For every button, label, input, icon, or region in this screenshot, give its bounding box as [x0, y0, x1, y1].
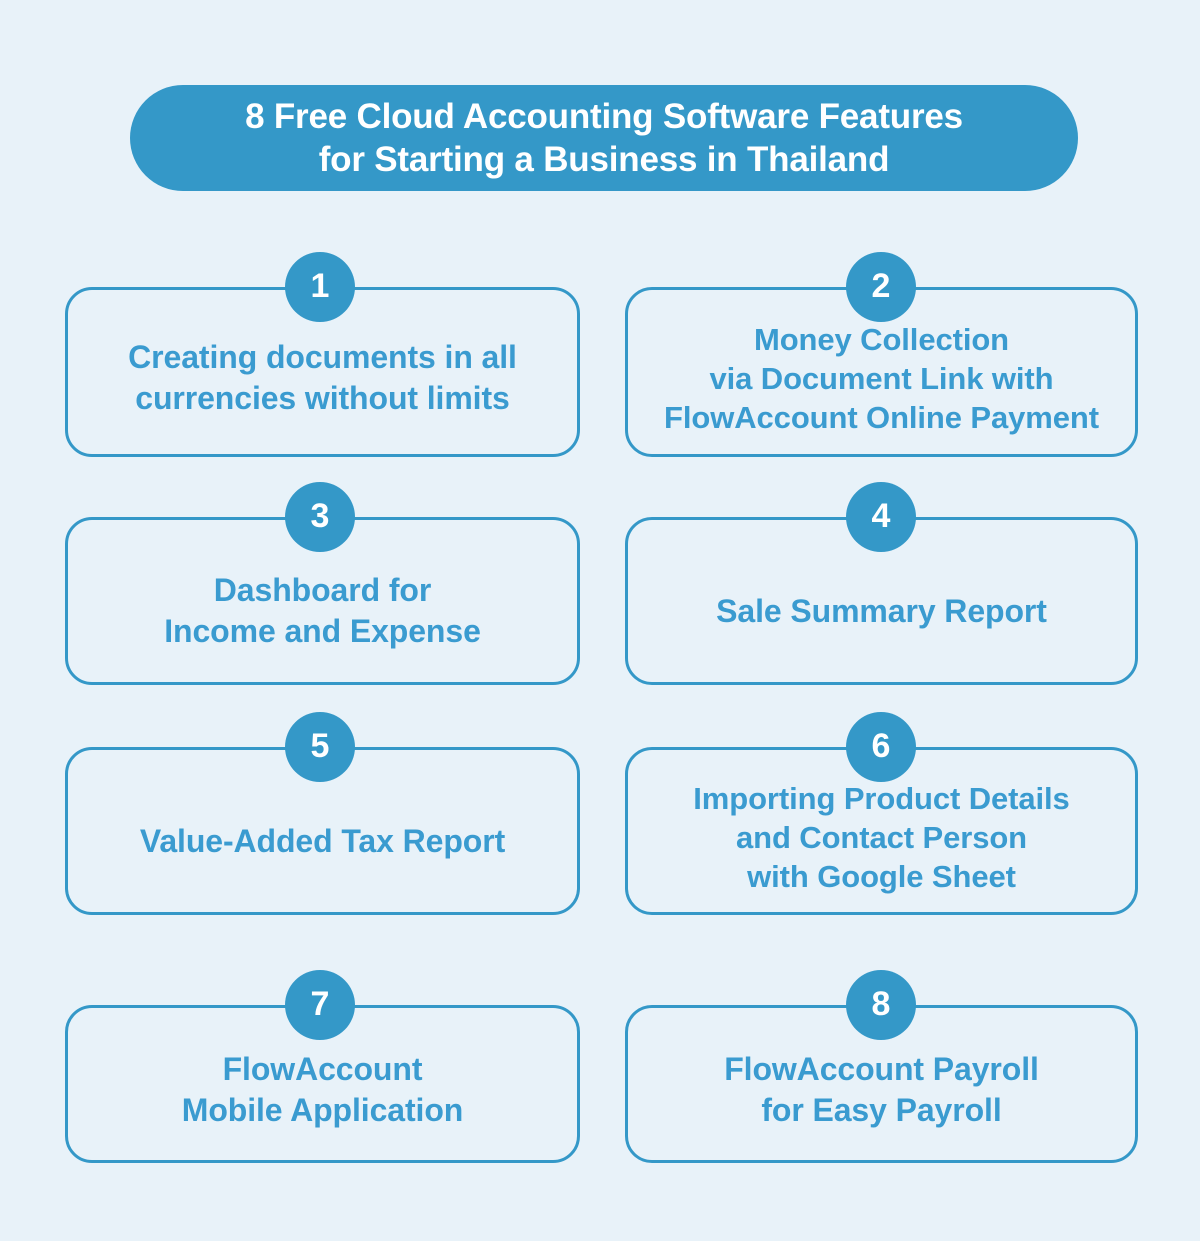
feature-badge-8-number: 8 [872, 987, 891, 1021]
feature-card-6-line-3: with Google Sheet [741, 857, 1022, 896]
feature-card-3-text: Dashboard for Income and Expense [68, 570, 577, 652]
feature-card-5-text: Value-Added Tax Report [68, 821, 577, 862]
feature-card-1-text: Creating documents in all currencies wit… [68, 337, 577, 419]
feature-badge-2: 2 [846, 252, 916, 322]
feature-card-2-line-3: FlowAccount Online Payment [664, 398, 1099, 437]
feature-card-6-text: Importing Product Details and Contact Pe… [628, 779, 1135, 896]
feature-card-7-line-1: FlowAccount [217, 1049, 429, 1090]
feature-card-8-text: FlowAccount Payroll for Easy Payroll [628, 1049, 1135, 1131]
feature-card-7-text: FlowAccount Mobile Application [68, 1049, 577, 1131]
feature-card-4-line-1: Sale Summary Report [710, 591, 1053, 632]
feature-card-5-line-1: Value-Added Tax Report [134, 821, 511, 862]
feature-badge-8: 8 [846, 970, 916, 1040]
feature-card-3-line-2: Income and Expense [158, 611, 487, 652]
feature-badge-1: 1 [285, 252, 355, 322]
feature-badge-7: 7 [285, 970, 355, 1040]
feature-badge-3-number: 3 [311, 499, 330, 533]
feature-badge-2-number: 2 [872, 269, 891, 303]
feature-card-1-line-1: Creating documents in all [122, 337, 523, 378]
feature-card-4-text: Sale Summary Report [628, 591, 1135, 632]
feature-badge-5: 5 [285, 712, 355, 782]
feature-card-1-line-2: currencies without limits [129, 378, 515, 419]
infographic-canvas: 8 Free Cloud Accounting Software Feature… [0, 0, 1200, 1241]
page-title-banner: 8 Free Cloud Accounting Software Feature… [130, 85, 1078, 191]
feature-card-8-line-1: FlowAccount Payroll [718, 1049, 1045, 1090]
feature-badge-7-number: 7 [311, 987, 330, 1021]
page-title-line-1: 8 Free Cloud Accounting Software Feature… [245, 95, 963, 138]
feature-badge-3: 3 [285, 482, 355, 552]
feature-card-6-line-2: and Contact Person [730, 818, 1033, 857]
feature-card-7-line-2: Mobile Application [176, 1090, 469, 1131]
feature-badge-1-number: 1 [311, 269, 330, 303]
feature-badge-4: 4 [846, 482, 916, 552]
feature-card-8-line-2: for Easy Payroll [755, 1090, 1007, 1131]
feature-card-6-line-1: Importing Product Details [687, 779, 1075, 818]
feature-badge-6-number: 6 [872, 729, 891, 763]
feature-badge-6: 6 [846, 712, 916, 782]
feature-card-2-line-2: via Document Link with [709, 359, 1053, 398]
page-title-line-2: for Starting a Business in Thailand [319, 138, 890, 181]
feature-card-3-line-1: Dashboard for [208, 570, 437, 611]
feature-badge-5-number: 5 [311, 729, 330, 763]
feature-badge-4-number: 4 [872, 499, 891, 533]
feature-card-2-text: Money Collection via Document Link with … [628, 320, 1135, 437]
feature-card-2-line-1: Money Collection [754, 320, 1009, 359]
